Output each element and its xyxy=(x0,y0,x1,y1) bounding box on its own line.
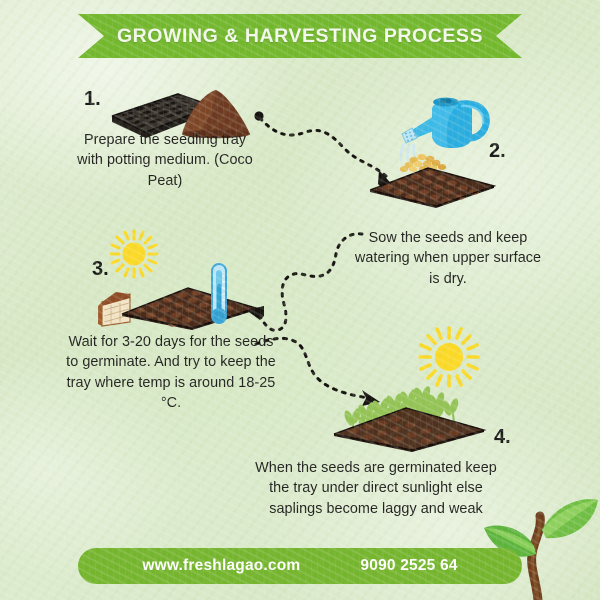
step-1-number: 1. xyxy=(84,88,101,111)
header-ribbon: GROWING & HARVESTING PROCESS xyxy=(78,14,522,58)
step-2-text: Sow the seeds and keep watering when upp… xyxy=(352,228,544,289)
step-2-artwork xyxy=(366,146,498,208)
footer-website[interactable]: www.freshlagao.com xyxy=(142,557,300,575)
step-3-artwork xyxy=(96,262,280,330)
infographic-poster: GROWING & HARVESTING PROCESS 1. xyxy=(0,0,600,600)
footer-phone[interactable]: 9090 2525 64 xyxy=(360,557,457,575)
sapling-decoration xyxy=(502,482,600,600)
footer-contact-bar: www.freshlagao.com 9090 2525 64 xyxy=(78,548,522,584)
step-3-text: Wait for 3-20 days for the seeds to germ… xyxy=(62,332,280,414)
page-title: GROWING & HARVESTING PROCESS xyxy=(117,25,483,48)
step-4-artwork xyxy=(328,378,508,452)
step-4-number: 4. xyxy=(494,426,511,449)
step-4-text: When the seeds are germinated keep the t… xyxy=(248,458,504,519)
step-1-text: Prepare the seedling tray with potting m… xyxy=(70,130,260,191)
